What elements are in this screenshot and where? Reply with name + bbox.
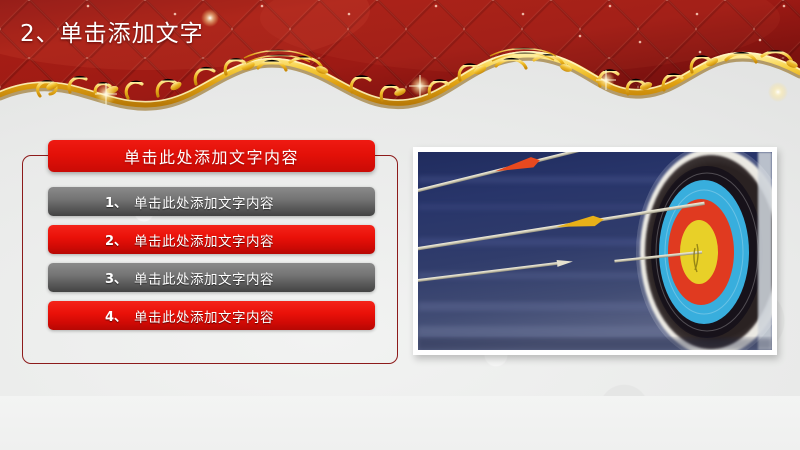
archery-photo-graphic: [418, 152, 772, 350]
list-item[interactable]: 3、 单击此处添加文字内容: [48, 263, 375, 292]
background-lower-band: [0, 396, 800, 450]
bullet-list: 1、 单击此处添加文字内容 2、 单击此处添加文字内容 3、 单击此处添加文字内…: [48, 187, 375, 330]
list-item[interactable]: 1、 单击此处添加文字内容: [48, 187, 375, 216]
list-item-index: 2、: [105, 230, 127, 249]
page-title: 2、单击添加文字: [20, 14, 204, 48]
panel-banner-label: 单击此处添加文字内容: [124, 144, 299, 168]
slide-canvas: 2、单击添加文字 单击此处添加文字内容 1、 单击此处添加文字内容 2、 单击此…: [0, 0, 800, 450]
list-item-label: 单击此处添加文字内容: [134, 306, 274, 326]
list-item[interactable]: 2、 单击此处添加文字内容: [48, 225, 375, 254]
slide-header: 2、单击添加文字: [0, 0, 800, 122]
list-item-index: 4、: [105, 306, 127, 325]
list-item-index: 3、: [105, 268, 127, 287]
panel-banner[interactable]: 单击此处添加文字内容: [48, 140, 375, 172]
archery-photo: [418, 152, 772, 350]
list-item[interactable]: 4、 单击此处添加文字内容: [48, 301, 375, 330]
list-item-label: 单击此处添加文字内容: [134, 268, 274, 288]
list-item-label: 单击此处添加文字内容: [134, 230, 274, 250]
photo-frame[interactable]: [413, 147, 777, 355]
list-item-label: 单击此处添加文字内容: [134, 192, 274, 212]
list-item-index: 1、: [105, 192, 127, 211]
